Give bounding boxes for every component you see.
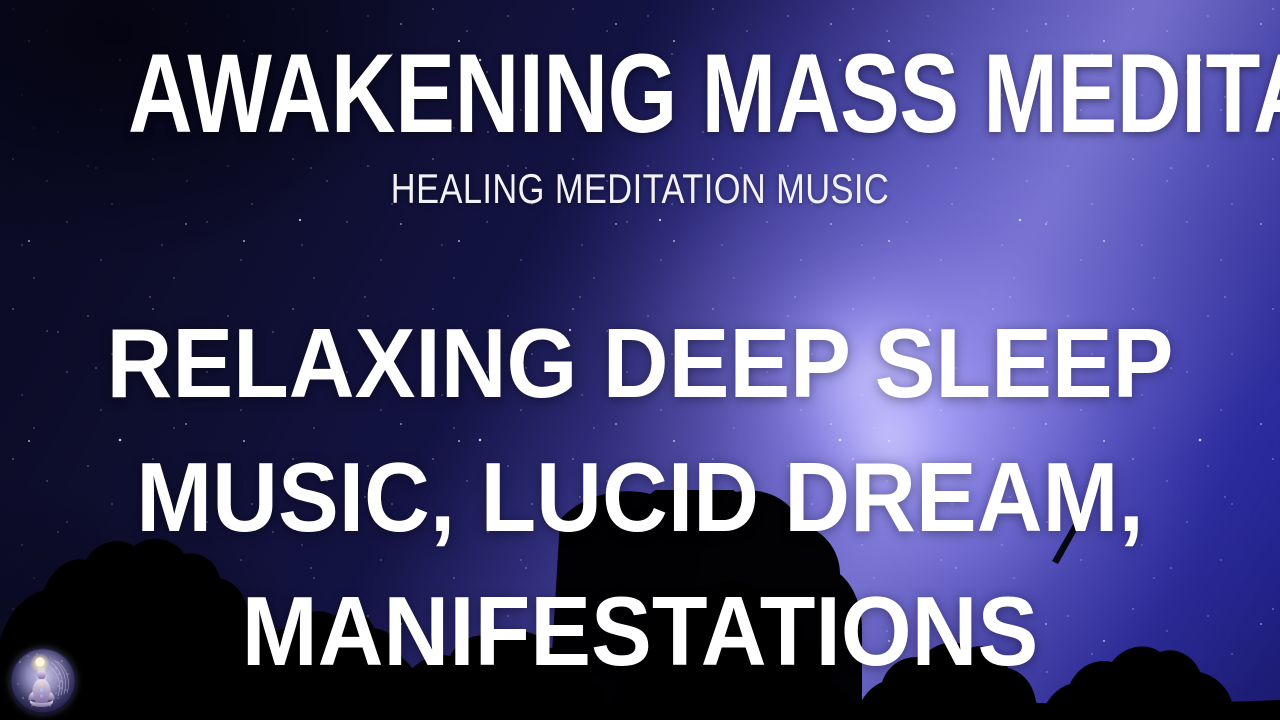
channel-tagline: HEALING MEDITATION MUSIC [115, 168, 1165, 210]
video-title: RELAXING DEEP SLEEP MUSIC, LUCID DREAM, … [0, 296, 1280, 698]
video-title-line-1: RELAXING DEEP SLEEP [45, 296, 1235, 430]
video-title-line-2: MUSIC, LUCID DREAM, [45, 430, 1235, 564]
meditating-figure-logo[interactable] [10, 648, 76, 714]
channel-name: AWAKENING MASS MEDITATIONS [128, 38, 1152, 150]
video-thumbnail: AWAKENING MASS MEDITATIONS HEALING MEDIT… [0, 0, 1280, 720]
video-title-line-3: MANIFESTATIONS [45, 564, 1235, 698]
